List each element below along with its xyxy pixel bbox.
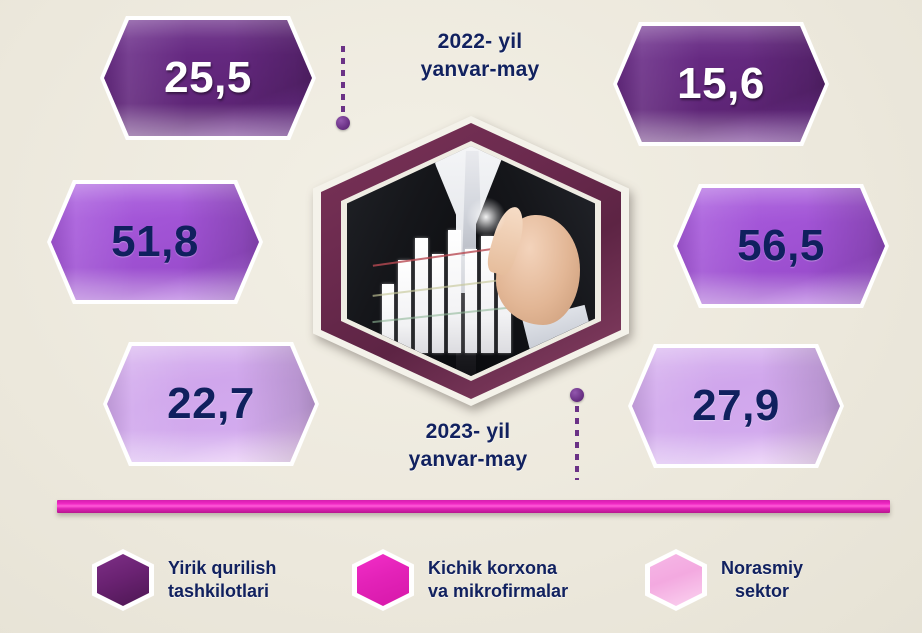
dashed-segment	[341, 46, 345, 118]
value-card-2022-large-construction: 25,5	[100, 16, 316, 140]
legend-swatch-hexagon-dark-purple	[92, 549, 154, 611]
value-card-2023-large-construction: 15,6	[613, 22, 829, 146]
legend-swatch-hexagon-light-pink	[645, 549, 707, 611]
value-card-2022-small-firms: 51,8	[47, 180, 263, 304]
value-text: 22,7	[167, 379, 255, 429]
dashed-segment	[575, 406, 579, 480]
photo-bar	[448, 230, 461, 353]
legend-item-small-firms: Kichik korxona va mikrofirmalar	[352, 549, 568, 611]
value-text: 27,9	[692, 381, 780, 431]
legend-item-informal-sector: Norasmiy sektor	[645, 549, 803, 611]
photo-bar	[465, 249, 478, 353]
legend-item-large-construction: Yirik qurilish tashkilotlari	[92, 549, 276, 611]
value-text: 51,8	[111, 217, 199, 267]
infographic-canvas: 25,5 51,8 22,7 15,6 56,5 27,9 2022- yil …	[0, 0, 922, 633]
legend-swatch-hexagon-magenta	[352, 549, 414, 611]
period-2022-line1: 2022- yil	[370, 28, 590, 56]
legend-label: Norasmiy sektor	[721, 557, 803, 603]
period-2023-line1: 2023- yil	[358, 418, 578, 446]
magenta-divider-rule	[57, 500, 890, 513]
photo-touch-glow	[466, 197, 506, 237]
center-photo-medallion	[313, 116, 629, 406]
value-card-2022-informal-sector: 22,7	[103, 342, 319, 466]
period-2023-line2: yanvar-may	[358, 446, 578, 474]
value-text: 15,6	[677, 59, 765, 109]
value-card-2023-small-firms: 56,5	[673, 184, 889, 308]
photo-bar	[398, 260, 411, 353]
value-text: 56,5	[737, 221, 825, 271]
period-label-2022: 2022- yil yanvar-may	[370, 28, 590, 83]
value-card-2023-informal-sector: 27,9	[628, 344, 844, 468]
period-label-2023: 2023- yil yanvar-may	[358, 418, 578, 473]
value-text: 25,5	[164, 53, 252, 103]
photo-bar	[415, 238, 428, 353]
legend-label: Yirik qurilish tashkilotlari	[168, 557, 276, 603]
period-2022-line2: yanvar-may	[370, 56, 590, 84]
legend-label: Kichik korxona va mikrofirmalar	[428, 557, 568, 603]
photo-bar	[432, 254, 445, 353]
